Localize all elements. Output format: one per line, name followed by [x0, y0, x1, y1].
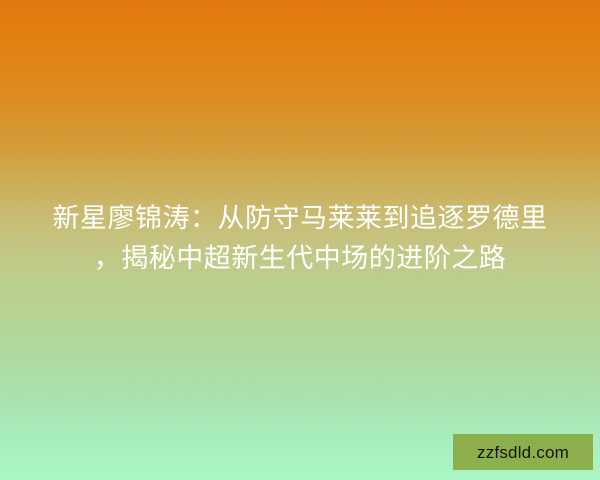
- cover-image: 新星廖锦涛：从防守马莱莱到追逐罗德里 ，揭秘中超新生代中场的进阶之路 zzfsd…: [0, 0, 600, 480]
- watermark-badge: zzfsdld.com: [453, 434, 593, 470]
- watermark-text: zzfsdld.com: [477, 444, 569, 461]
- page-title: 新星廖锦涛：从防守马莱莱到追逐罗德里 ，揭秘中超新生代中场的进阶之路: [0, 198, 600, 278]
- title-line-1: 新星廖锦涛：从防守马莱莱到追逐罗德里: [22, 198, 578, 238]
- title-line-2: ，揭秘中超新生代中场的进阶之路: [22, 238, 578, 278]
